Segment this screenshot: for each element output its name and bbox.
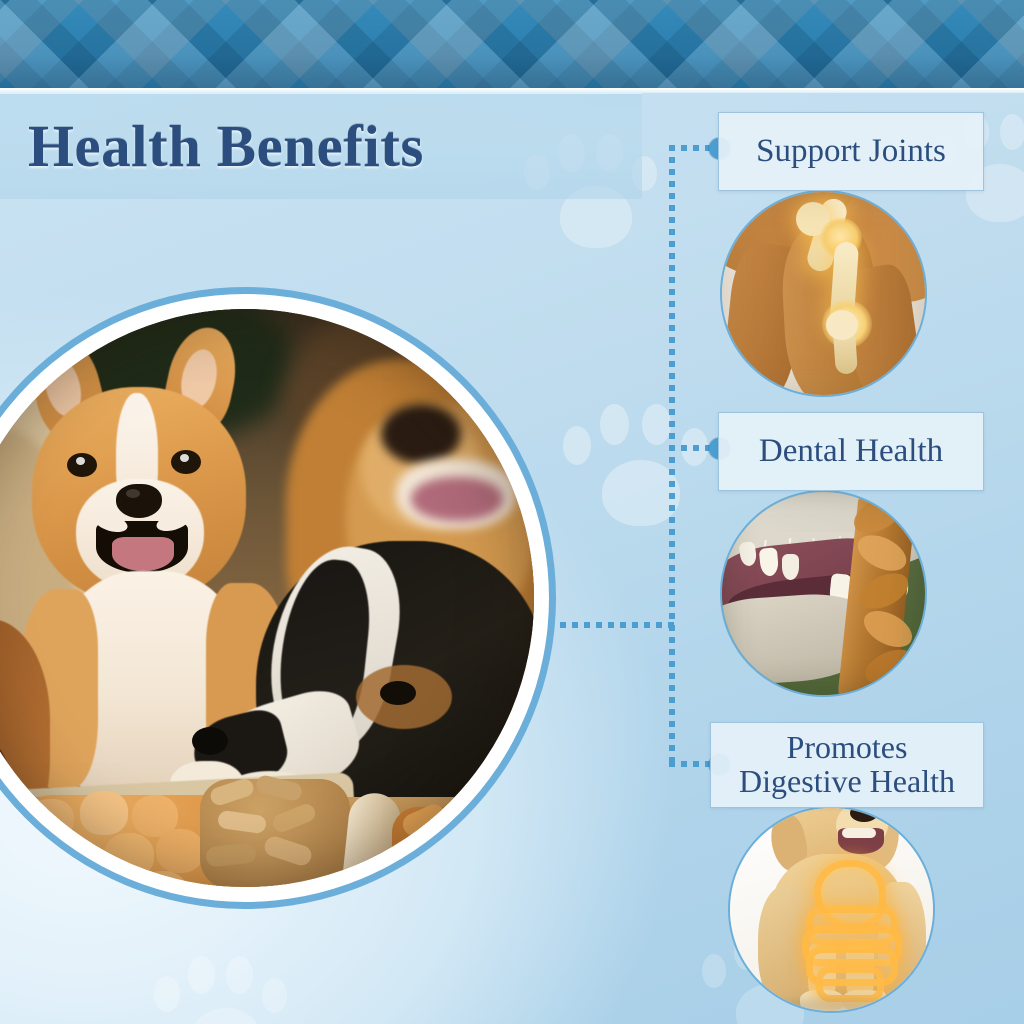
label-box-support-joints[interactable]: Support Joints xyxy=(718,112,984,191)
plaid-header-band xyxy=(0,0,1024,88)
dog-leg-joint-xray-photo xyxy=(722,192,925,395)
label-text-support-joints: Support Joints xyxy=(756,133,946,170)
paw-print-watermark xyxy=(150,950,300,1024)
dotted-connector-line-vertical xyxy=(669,145,675,767)
dog-digestive-system-photo xyxy=(730,808,933,1011)
label-text-digestive-health-line2: Digestive Health xyxy=(739,765,955,799)
label-box-dental-health[interactable]: Dental Health xyxy=(718,412,984,491)
hero-circle xyxy=(0,287,556,909)
dog-teeth-chewing-treat-photo xyxy=(722,492,925,695)
label-text-digestive-health-line1: Promotes xyxy=(787,731,908,765)
label-text-dental-health: Dental Health xyxy=(759,433,943,470)
dental-health-circle-image xyxy=(722,492,925,695)
header-shadow-overlay xyxy=(0,0,1024,88)
page-title: Health Benefits xyxy=(28,112,648,181)
dogs-with-treats-photo xyxy=(0,309,534,887)
dotted-connector-line-to-hero xyxy=(560,622,674,628)
infographic-poster: Health Benefits xyxy=(0,0,1024,1024)
digestive-health-circle-image xyxy=(730,808,933,1011)
paw-print-watermark xyxy=(560,398,720,558)
label-box-digestive-health[interactable]: Promotes Digestive Health xyxy=(710,722,984,808)
support-joints-circle-image xyxy=(722,192,925,395)
